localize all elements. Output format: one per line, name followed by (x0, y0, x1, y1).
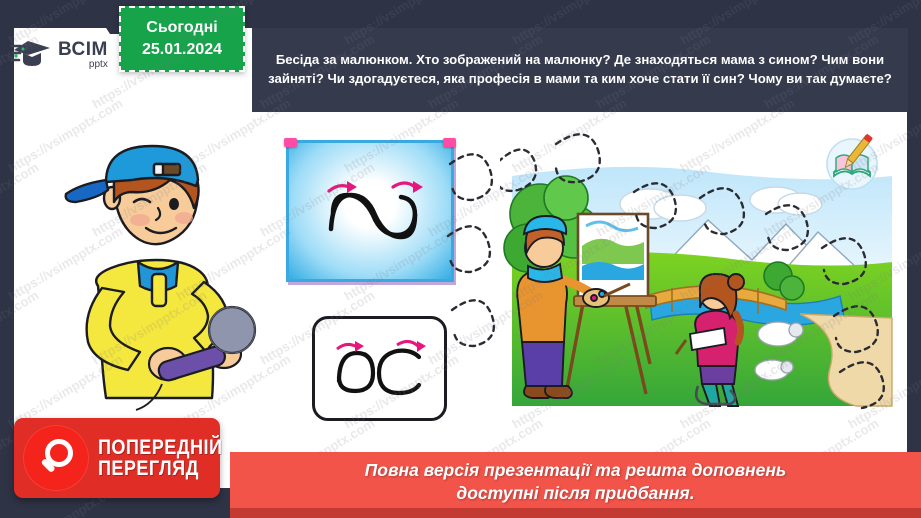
lesson-prompt-bar: Бесіда за малюнком. Хто зображений на ма… (252, 28, 908, 112)
preview-badge: ПОПЕРЕДНІЙ ПЕРЕГЛЯД (14, 418, 220, 498)
slide-canvas: ВСІМ pptx Сьогодні 25.01.2024 Бесіда за … (0, 0, 921, 518)
today-date-badge: Сьогодні 25.01.2024 (119, 6, 245, 72)
banner-shadow (230, 508, 921, 518)
banner-line-2: доступні після придбання. (456, 483, 694, 503)
boy-with-microphone (36, 136, 286, 414)
cursive-x-blue-card (286, 140, 454, 282)
trace-loop-guides (446, 140, 498, 390)
today-label: Сьогодні (146, 17, 217, 39)
logo-name: ВСІМ (58, 40, 108, 59)
cursive-x-outline-card (312, 316, 447, 421)
graduation-cap-icon (10, 37, 54, 73)
today-date: 25.01.2024 (142, 39, 222, 61)
preview-line-1: ПОПЕРЕДНІЙ (98, 437, 222, 458)
lesson-prompt-text: Бесіда за малюнком. Хто зображений на ма… (262, 51, 898, 88)
brand-logo[interactable]: ВСІМ pptx (10, 30, 110, 80)
magnifier-icon (23, 425, 89, 491)
purchase-banner: Повна версія презентації та решта доповн… (230, 452, 921, 512)
banner-line-1: Повна версія презентації та решта доповн… (365, 460, 787, 480)
logo-subtitle: pptx (58, 60, 108, 70)
mother-painting-outdoors-scene (500, 128, 900, 410)
preview-line-2: ПЕРЕГЛЯД (98, 458, 222, 479)
